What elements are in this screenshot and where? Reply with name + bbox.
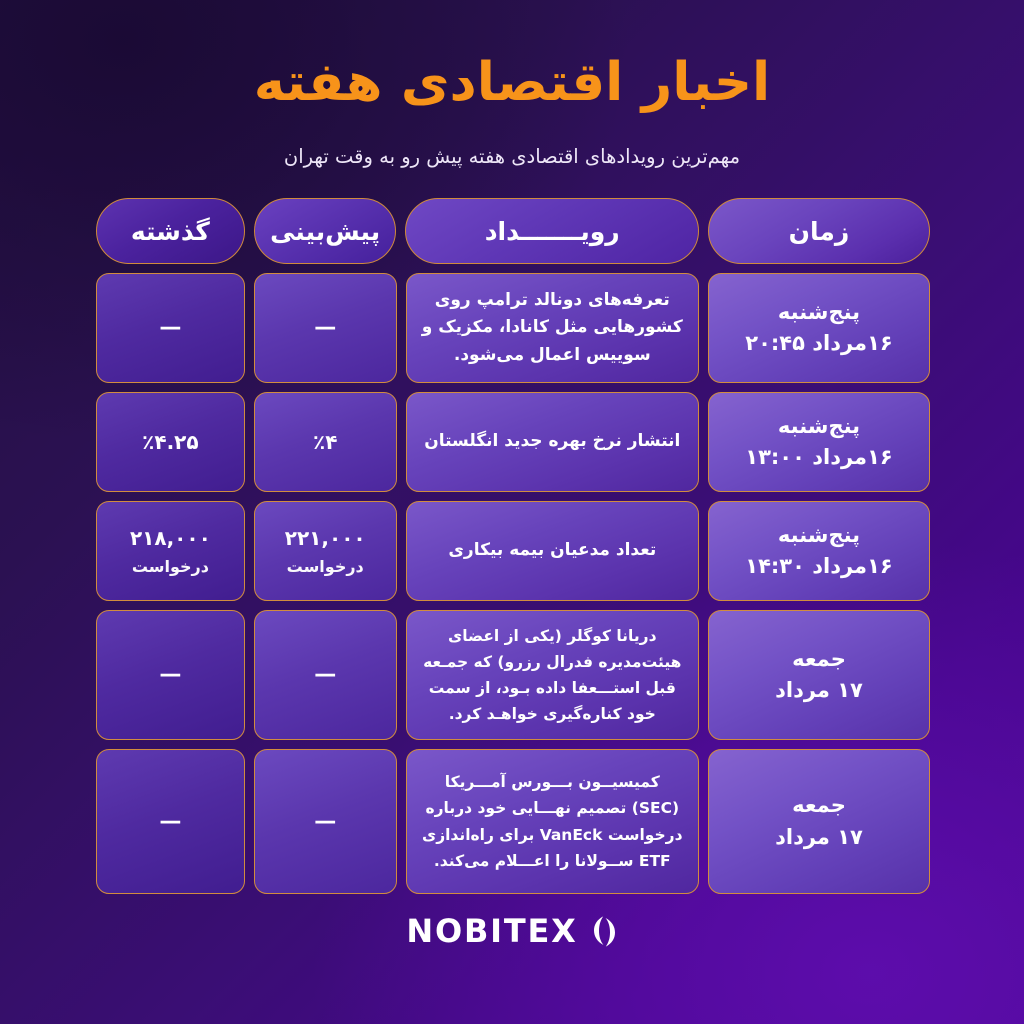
events-table: زمان رویـــــــداد پیش‌بینی گذشته پنج‌شن… — [96, 198, 930, 894]
cell-time: پنج‌شنبه ۱۶مرداد ۲۰:۴۵ — [708, 273, 930, 383]
cell-forecast: ۲۲۱,۰۰۰ درخواست — [254, 501, 397, 601]
time-date: ۱۷ مرداد — [775, 675, 863, 707]
cell-time: جمعه ۱۷ مرداد — [708, 749, 930, 894]
page-title: اخبار اقتصادی هفته — [0, 52, 1024, 115]
forecast-value: — — [314, 312, 336, 344]
cell-event: دریانا کوگلر (یکی از اعضای هیئت‌مدیره فد… — [406, 610, 699, 740]
column-header-previous-label: گذشته — [131, 217, 210, 246]
previous-value: — — [159, 806, 181, 838]
time-date: ۱۶مرداد ۲۰:۴۵ — [745, 328, 892, 360]
table-row: پنج‌شنبه ۱۶مرداد ۱۳:۰۰ انتشار نرخ بهره ج… — [96, 392, 930, 492]
time-date: ۱۷ مرداد — [775, 822, 863, 854]
forecast-value: — — [314, 806, 336, 838]
cell-previous: — — [96, 273, 245, 383]
cell-forecast: — — [254, 610, 397, 740]
time-day: جمعه — [792, 790, 846, 822]
cell-time: پنج‌شنبه ۱۶مرداد ۱۴:۳۰ — [708, 501, 930, 601]
previous-value: — — [159, 659, 181, 691]
cell-previous: ۲۱۸,۰۰۰ درخواست — [96, 501, 245, 601]
table-header-row: زمان رویـــــــداد پیش‌بینی گذشته — [96, 198, 930, 264]
cell-previous: — — [96, 749, 245, 894]
infographic-page: اخبار اقتصادی هفته مهم‌ترین رویدادهای اق… — [0, 0, 1024, 1024]
cell-event: کمیسیــون بـــورس آمـــریکا (SEC) تصمیم … — [406, 749, 699, 894]
time-date: ۱۶مرداد ۱۳:۰۰ — [745, 442, 892, 474]
time-day: پنج‌شنبه — [778, 297, 860, 329]
column-header-time: زمان — [708, 198, 930, 264]
time-day: جمعه — [792, 644, 846, 676]
cell-time: جمعه ۱۷ مرداد — [708, 610, 930, 740]
forecast-value: ٪۴ — [313, 428, 337, 457]
nobitex-crescent-logo-icon — [591, 915, 618, 948]
time-day: پنج‌شنبه — [778, 411, 860, 443]
previous-value: — — [159, 312, 181, 344]
page-subtitle: مهم‌ترین رویدادهای اقتصادی هفته پیش رو ب… — [0, 143, 1024, 170]
column-header-previous: گذشته — [96, 198, 245, 264]
table-row: پنج‌شنبه ۱۶مرداد ۲۰:۴۵ تعرفه‌های دونالد … — [96, 273, 930, 383]
time-day: پنج‌شنبه — [778, 520, 860, 552]
footer-branding: NOBITEX — [0, 912, 1024, 950]
forecast-unit: درخواست — [287, 555, 364, 578]
previous-unit: درخواست — [132, 555, 209, 578]
forecast-value: — — [314, 659, 336, 691]
previous-value: ٪۴.۲۵ — [142, 428, 198, 457]
cell-event: تعداد مدعیان بیمه بیکاری — [406, 501, 699, 601]
cell-event: انتشار نرخ بهره جدید انگلستان — [406, 392, 699, 492]
brand-name: NOBITEX — [406, 912, 577, 950]
column-header-time-label: زمان — [789, 217, 850, 246]
cell-previous: ٪۴.۲۵ — [96, 392, 245, 492]
table-row: جمعه ۱۷ مرداد کمیسیــون بـــورس آمـــریک… — [96, 749, 930, 894]
table-row: پنج‌شنبه ۱۶مرداد ۱۴:۳۰ تعداد مدعیان بیمه… — [96, 501, 930, 601]
column-header-forecast: پیش‌بینی — [254, 198, 397, 264]
column-header-forecast-label: پیش‌بینی — [270, 217, 380, 246]
time-date: ۱۶مرداد ۱۴:۳۰ — [745, 551, 892, 583]
cell-time: پنج‌شنبه ۱۶مرداد ۱۳:۰۰ — [708, 392, 930, 492]
column-header-event: رویـــــــداد — [405, 198, 698, 264]
previous-value: ۲۱۸,۰۰۰ — [130, 524, 211, 553]
cell-forecast: ٪۴ — [254, 392, 397, 492]
table-row: جمعه ۱۷ مرداد دریانا کوگلر (یکی از اعضای… — [96, 610, 930, 740]
cell-event: تعرفه‌های دونالد ترامپ روی کشورهایی مثل … — [406, 273, 699, 383]
cell-forecast: — — [254, 273, 397, 383]
cell-previous: — — [96, 610, 245, 740]
cell-forecast: — — [254, 749, 397, 894]
forecast-value: ۲۲۱,۰۰۰ — [285, 524, 366, 553]
column-header-event-label: رویـــــــداد — [485, 217, 620, 246]
